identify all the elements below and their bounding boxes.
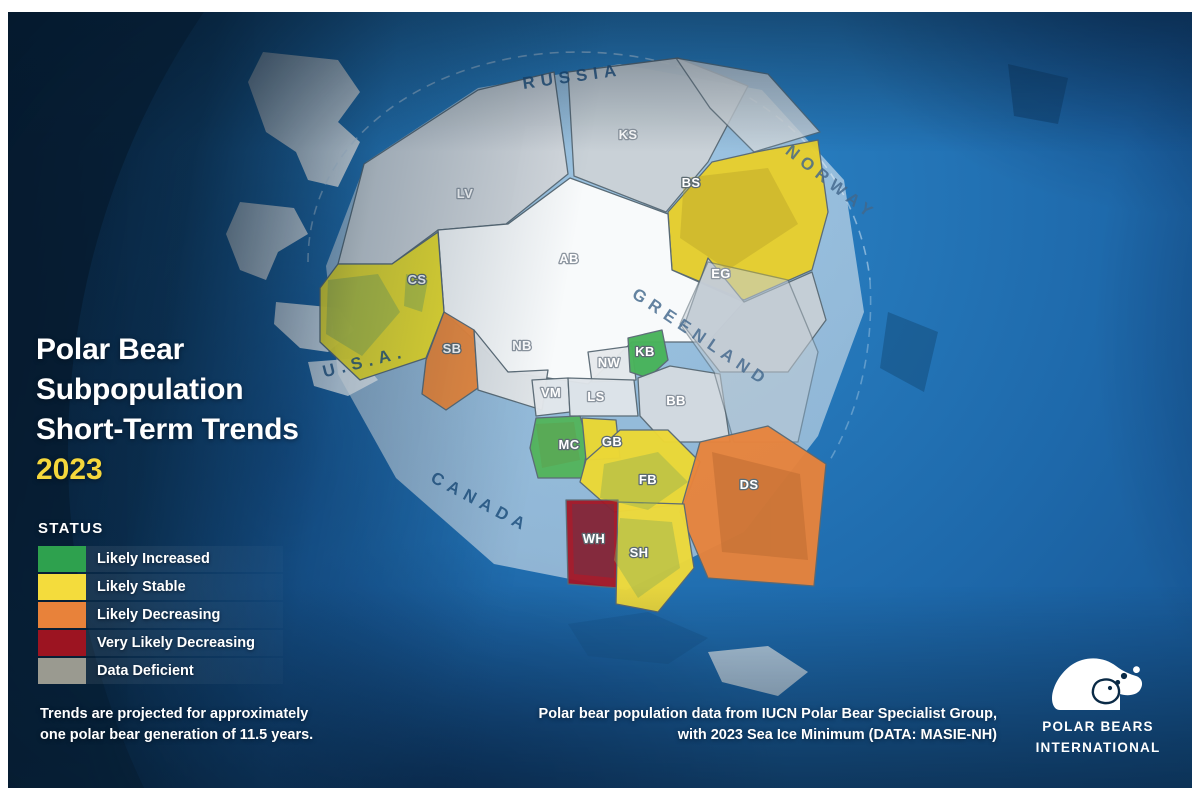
infographic-canvas: KSBSLVABCSEGSBNBNWKBVMLSBBMCGBFBDSWHSH R… <box>8 12 1192 788</box>
legend-label: Likely Increased <box>86 551 210 567</box>
title-block: Polar Bear Subpopulation Short-Term Tren… <box>36 330 366 489</box>
title-year: 2023 <box>36 451 366 489</box>
legend-label: Very Likely Decreasing <box>86 635 255 651</box>
region-label-FB: FB <box>639 472 657 487</box>
data-source-line-2: with 2023 Sea Ice Minimum (DATA: MASIE-N… <box>539 725 997 746</box>
data-source-note: Polar bear population data from IUCN Pol… <box>539 704 997 745</box>
region-label-SH: SH <box>630 545 649 560</box>
legend-row: Data Deficient <box>38 658 283 684</box>
region-label-EG: EG <box>711 266 731 281</box>
legend-label: Data Deficient <box>86 663 194 679</box>
region-label-LS: LS <box>587 389 604 404</box>
legend-color-swatch <box>38 658 86 684</box>
region-label-LV: LV <box>457 186 473 201</box>
logo-line-1: POLAR BEARS <box>1022 719 1174 735</box>
logo-line-2: INTERNATIONAL <box>1022 740 1174 756</box>
legend-row: Likely Decreasing <box>38 602 283 628</box>
legend-color-swatch <box>38 630 86 656</box>
region-label-NB: NB <box>512 338 532 353</box>
legend-row: Likely Stable <box>38 574 283 600</box>
region-label-VM: VM <box>541 385 561 400</box>
legend-color-swatch <box>38 574 86 600</box>
region-label-CS: CS <box>408 272 427 287</box>
region-label-NW: NW <box>598 355 621 370</box>
region-label-WH: WH <box>583 531 605 546</box>
region-label-MC: MC <box>558 437 579 452</box>
region-label-BS: BS <box>682 175 701 190</box>
title-line-3: Short-Term Trends <box>36 410 366 450</box>
region-label-AB: AB <box>559 251 579 266</box>
status-legend: Likely IncreasedLikely StableLikely Decr… <box>38 546 283 686</box>
region-label-DS: DS <box>740 477 759 492</box>
legend-row: Very Likely Decreasing <box>38 630 283 656</box>
data-source-line-1: Polar bear population data from IUCN Pol… <box>539 704 997 725</box>
legend-label: Likely Stable <box>86 579 186 595</box>
region-label-BB: BB <box>666 393 686 408</box>
subpopulation-polygons <box>320 58 828 612</box>
polar-bear-mother-and-cub-icon <box>1050 652 1146 714</box>
legend-label: Likely Decreasing <box>86 607 220 623</box>
region-label-GB: GB <box>602 434 622 449</box>
polar-bears-international-logo: POLAR BEARS INTERNATIONAL <box>1022 652 1174 756</box>
projection-note: Trends are projected for approximately o… <box>40 704 313 745</box>
title-line-1: Polar Bear <box>36 330 366 370</box>
projection-note-line-2: one polar bear generation of 11.5 years. <box>40 725 313 746</box>
projection-note-line-1: Trends are projected for approximately <box>40 704 313 725</box>
region-label-KS: KS <box>619 127 638 142</box>
region-label-KB: KB <box>635 344 655 359</box>
legend-heading: STATUS <box>38 520 104 537</box>
title-line-2: Subpopulation <box>36 370 366 410</box>
legend-row: Likely Increased <box>38 546 283 572</box>
legend-color-swatch <box>38 546 86 572</box>
region-label-SB: SB <box>443 341 462 356</box>
legend-color-swatch <box>38 602 86 628</box>
